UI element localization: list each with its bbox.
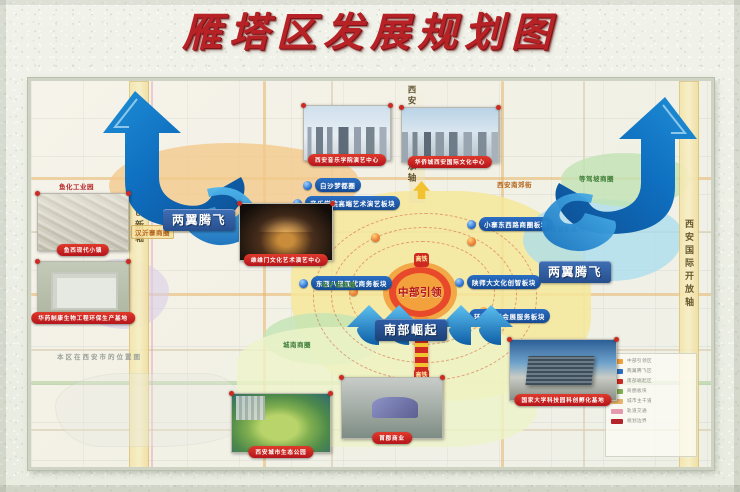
legend-label: 南部崛起区 (627, 378, 652, 384)
legend-label: 轨道交通 (627, 408, 647, 414)
legend-row: 南部崛起区 (611, 378, 691, 384)
photo-pin-icon (614, 337, 619, 342)
legend-label: 两翼腾飞区 (627, 368, 652, 374)
center-hub-label: 中部引领 (398, 285, 442, 300)
photo-pin-icon (126, 191, 131, 196)
legend-label: 中部引领区 (627, 358, 652, 364)
photo-image (232, 394, 330, 452)
south-rise-banner: 南部崛起 (375, 319, 447, 341)
legend-row: 轨道交通 (611, 408, 691, 414)
photo-huarun-center[interactable]: 华侨城西安国际文化中心 (401, 107, 499, 163)
map-legend: 中部引领区 两翼腾飞区 南部崛起区 商圈板块 城市主干道 轨道交通 (605, 353, 697, 457)
photo-caption: 西安音乐学院演艺中心 (308, 154, 386, 166)
photo-pin-icon (237, 201, 242, 206)
legend-row: 规划边界 (611, 418, 691, 424)
west-wing-banner: 两翼腾飞 (163, 209, 235, 231)
photo-pin-icon (126, 259, 131, 264)
legend-row: 中部引领区 (611, 358, 691, 364)
module-dot-icon (299, 279, 308, 288)
photo-caption: 首郡商业 (372, 432, 412, 444)
photo-image (402, 108, 498, 162)
inset-locator-map (49, 349, 249, 461)
orbit-pin-ne (467, 237, 476, 246)
east-wing-ribbon-arrow (531, 91, 711, 261)
photo-univ-sci-park[interactable]: 国家大学科技园科创孵化基地 (509, 339, 617, 401)
photo-art-center-stage[interactable]: 维维门文化艺术演艺中心 (239, 203, 333, 261)
legend-swatch-icon (611, 419, 623, 424)
photo-pin-icon (229, 391, 234, 396)
photo-image (510, 340, 616, 400)
photo-image (38, 194, 128, 250)
page-title-bar: 雁塔区发展规划图 (0, 8, 740, 58)
legend-label: 城市主干道 (627, 398, 652, 404)
legend-row: 两翼腾飞区 (611, 368, 691, 374)
legend-swatch-icon (611, 409, 623, 414)
module-dot-icon (467, 220, 476, 229)
photo-image (240, 204, 332, 260)
photo-image (304, 106, 390, 160)
east-wing-banner: 两翼腾飞 (539, 261, 611, 283)
zone-label-chengnan: 城南商圈 (283, 339, 311, 349)
photo-pin-icon (496, 105, 501, 110)
photo-caption: 华侨城西安国际文化中心 (408, 156, 492, 168)
photo-caption: 西安城市生态公园 (248, 446, 313, 458)
photo-pin-icon (339, 375, 344, 380)
photo-pin-icon (35, 191, 40, 196)
module-dot-icon (303, 181, 312, 190)
photo-pin-icon (328, 391, 333, 396)
photo-bio-engineering[interactable]: 华药制康生物工程环保生产基地 (37, 261, 129, 319)
photo-caption: 维维门文化艺术演艺中心 (244, 254, 328, 266)
module-dot-icon (455, 278, 464, 287)
module-label: 陕师大文化创智板块 (467, 275, 541, 289)
legend-row: 商圈板块 (611, 388, 691, 394)
photo-pin-icon (35, 259, 40, 264)
photo-pin-icon (440, 375, 445, 380)
inset-map-title: 本区在西安市的位置图 (57, 351, 142, 361)
photo-eco-park[interactable]: 西安城市生态公园 (231, 393, 331, 453)
photo-pin-icon (399, 105, 404, 110)
photo-pin-icon (388, 103, 393, 108)
photo-aerial-old-village[interactable]: 鱼西现代小镇 (37, 193, 129, 251)
photo-xian-music-college[interactable]: 西安音乐学院演艺中心 (303, 105, 391, 161)
page-title: 雁塔区发展规划图 (182, 9, 558, 56)
photo-caption: 鱼西现代小镇 (57, 244, 109, 256)
orbit-pin-nw (371, 233, 380, 242)
module-label: 白沙梦都圈 (315, 178, 361, 192)
module-snnu-culture[interactable]: 陕师大文化创智板块 (455, 275, 541, 289)
legend-row: 城市主干道 (611, 398, 691, 404)
photo-image (342, 378, 442, 438)
map-canvas: 西安科技创新轴 西安国际开放轴 西安古都文化传承轴 高铁 高铁 中部引领 高铁 (31, 81, 711, 467)
planning-map-frame: 西安科技创新轴 西安国际开放轴 西安古都文化传承轴 高铁 高铁 中部引领 高铁 (28, 78, 714, 470)
photo-pin-icon (330, 201, 335, 206)
hub-badge-gaotie: 高铁 (414, 253, 429, 267)
photo-caption: 华药制康生物工程环保生产基地 (31, 312, 135, 324)
inset-city-outline (55, 373, 241, 447)
module-baishamen[interactable]: 白沙梦都圈 (303, 178, 361, 192)
photo-west-mall[interactable]: 首郡商业 (341, 377, 443, 439)
legend-label: 商圈板块 (627, 388, 647, 394)
zone-label-dianzicheng: 电子城商圈 (321, 279, 356, 289)
photo-pin-icon (301, 103, 306, 108)
photo-pin-icon (507, 337, 512, 342)
zone-label-xian-nanjiao: 西安南郊街 (497, 179, 532, 189)
photo-image (38, 262, 128, 318)
photo-caption: 国家大学科技园科创孵化基地 (514, 394, 611, 406)
legend-label: 规划边界 (627, 418, 647, 424)
